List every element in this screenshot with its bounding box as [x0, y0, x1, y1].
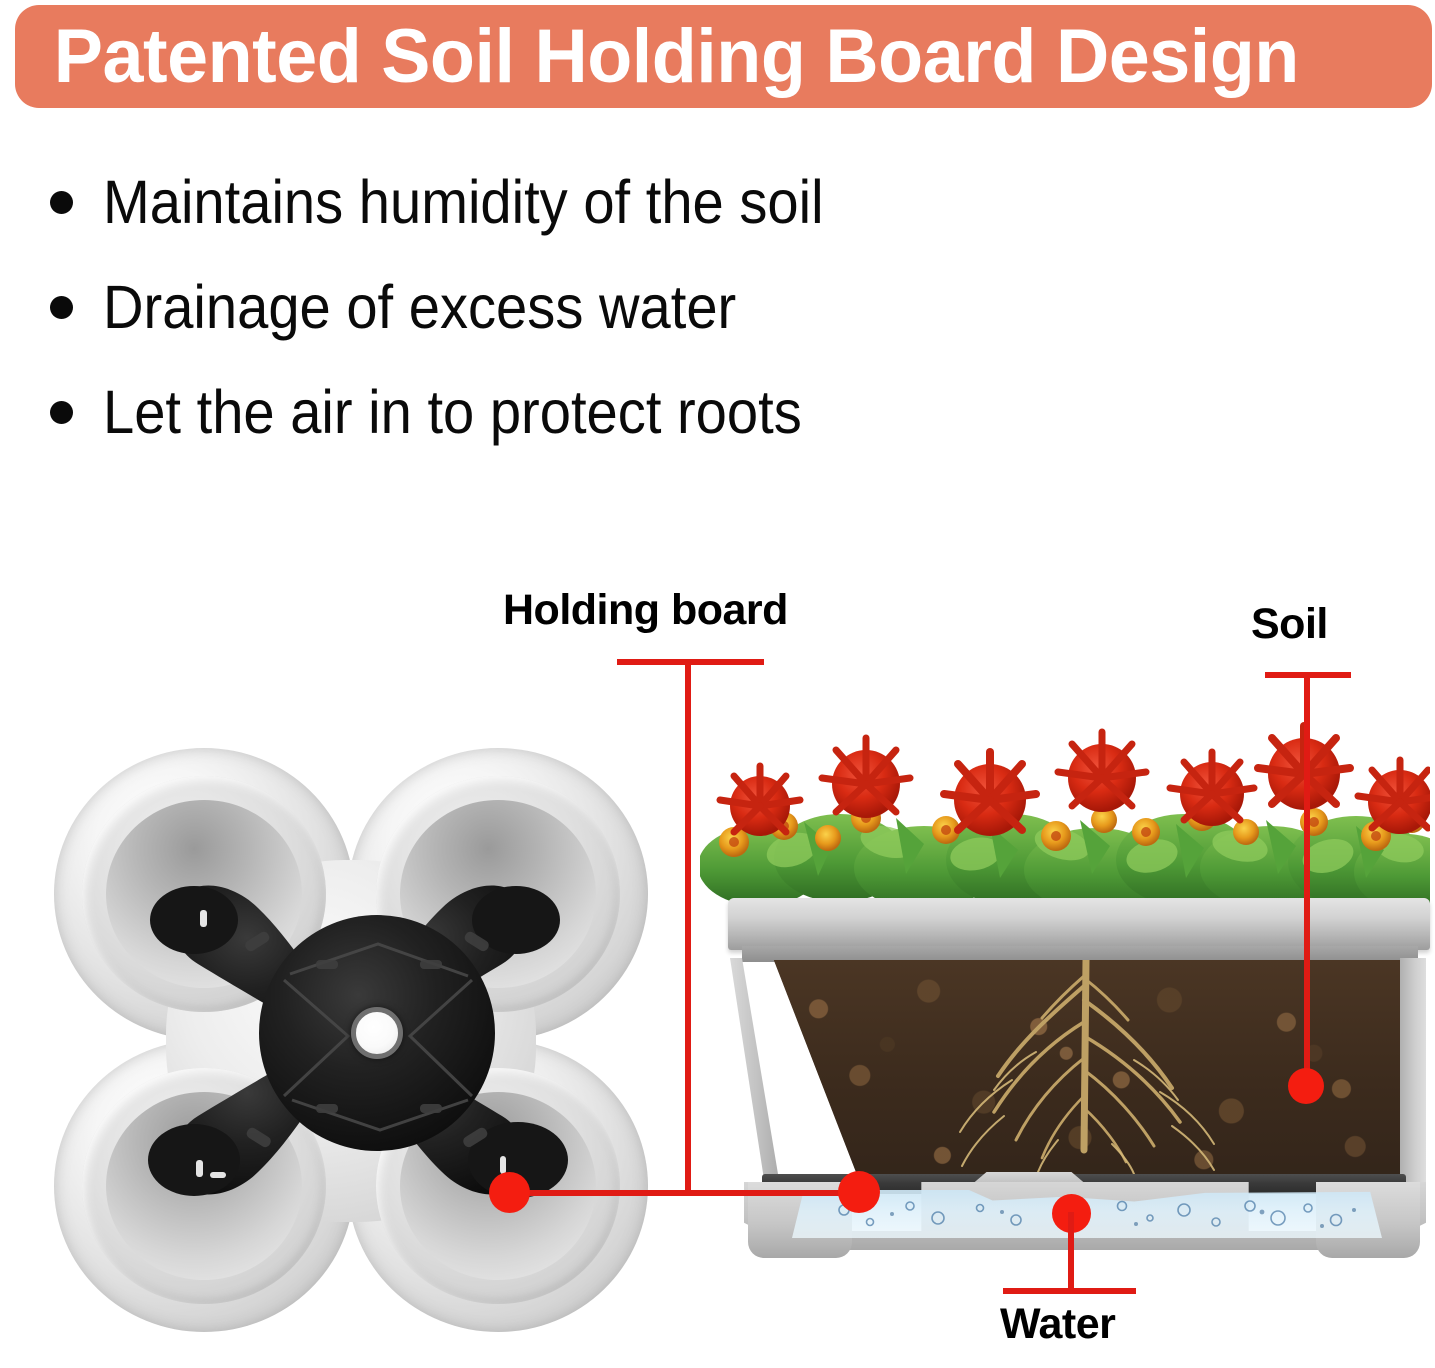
callout-dot-holding-board-left: [489, 1172, 530, 1213]
soil-section: [736, 960, 1424, 1182]
callout-bar-water: [1003, 1288, 1136, 1294]
planter-rim-underside: [742, 946, 1418, 962]
callout-label-water: Water: [1000, 1300, 1115, 1349]
callout-stem-soil: [1304, 672, 1310, 1086]
feature-list: Maintains humidity of the soil Drainage …: [42, 150, 1142, 465]
page-title: Patented Soil Holding Board Design: [15, 19, 1299, 95]
feature-text: Maintains humidity of the soil: [103, 172, 824, 233]
callout-label-holding-board: Holding board: [503, 586, 788, 635]
plant-roots: [736, 960, 1424, 1182]
callout-dot-soil: [1288, 1068, 1324, 1104]
callout-dot-holding-board-right: [838, 1171, 880, 1213]
planter-rim: [728, 898, 1430, 950]
callout-label-soil: Soil: [1251, 600, 1328, 649]
quatrefoil-planter-top-view: [48, 748, 652, 1333]
callout-bridge-holding-board: [508, 1190, 860, 1196]
soil-holding-board-insert: [48, 748, 652, 1333]
list-item: Maintains humidity of the soil: [42, 150, 1142, 255]
center-drain-hole: [351, 1007, 403, 1059]
feature-text: Drainage of excess water: [103, 277, 736, 338]
bullet-dot-icon: [50, 191, 73, 214]
list-item: Drainage of excess water: [42, 255, 1142, 360]
header-banner: Patented Soil Holding Board Design: [15, 5, 1432, 108]
callout-stem-holding-board: [685, 659, 691, 1193]
bullet-dot-icon: [50, 296, 73, 319]
planter-wall-left: [730, 958, 780, 1186]
planter-cross-section: [700, 690, 1430, 1330]
chrysanthemum-flowers: [700, 690, 1430, 925]
callout-stem-water: [1068, 1212, 1074, 1294]
planter-wall-right: [1400, 958, 1426, 1186]
list-item: Let the air in to protect roots: [42, 360, 1142, 465]
bullet-dot-icon: [50, 401, 73, 424]
infographic-page: Patented Soil Holding Board Design Maint…: [0, 0, 1435, 1368]
feature-text: Let the air in to protect roots: [103, 382, 802, 443]
